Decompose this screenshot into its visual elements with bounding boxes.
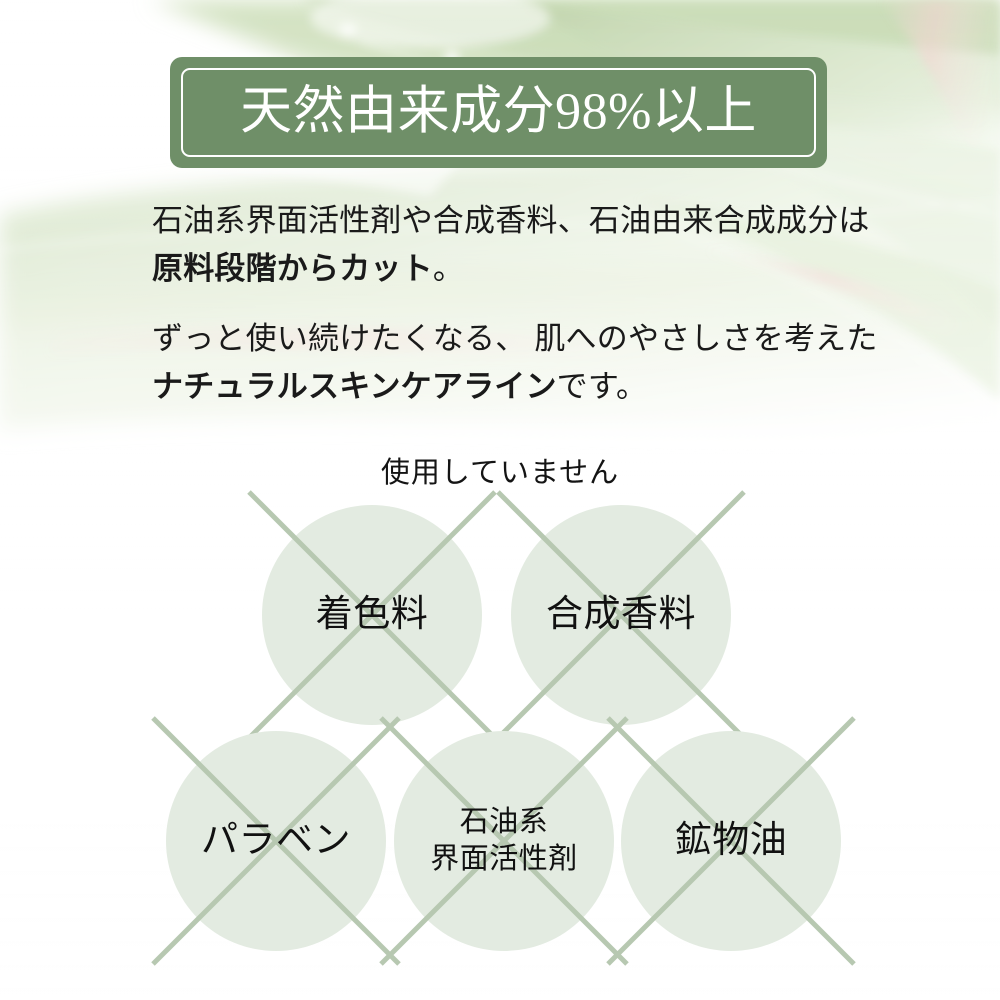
free-from-item-petroleum-surfactant: 石油系 界面活性剤 [394, 731, 614, 951]
free-from-item-colorant: 着色料 [262, 505, 482, 725]
free-from-label: 合成香料 [481, 593, 761, 637]
free-from-item-synthetic-fragrance: 合成香料 [511, 505, 731, 725]
free-from-label: 鉱物油 [591, 819, 871, 863]
infographic-page: 天然由来成分98%以上 石油系界面活性剤や合成香料、石油由来合成成分は原料段階か… [0, 0, 1000, 1000]
free-from-circle-group: 着色料 合成香料 パラベン 石油系 界面活性剤 [0, 0, 1000, 1000]
free-from-item-mineral-oil: 鉱物油 [621, 731, 841, 951]
free-from-item-paraben: パラベン [166, 731, 386, 951]
free-from-label: 着色料 [232, 593, 512, 637]
